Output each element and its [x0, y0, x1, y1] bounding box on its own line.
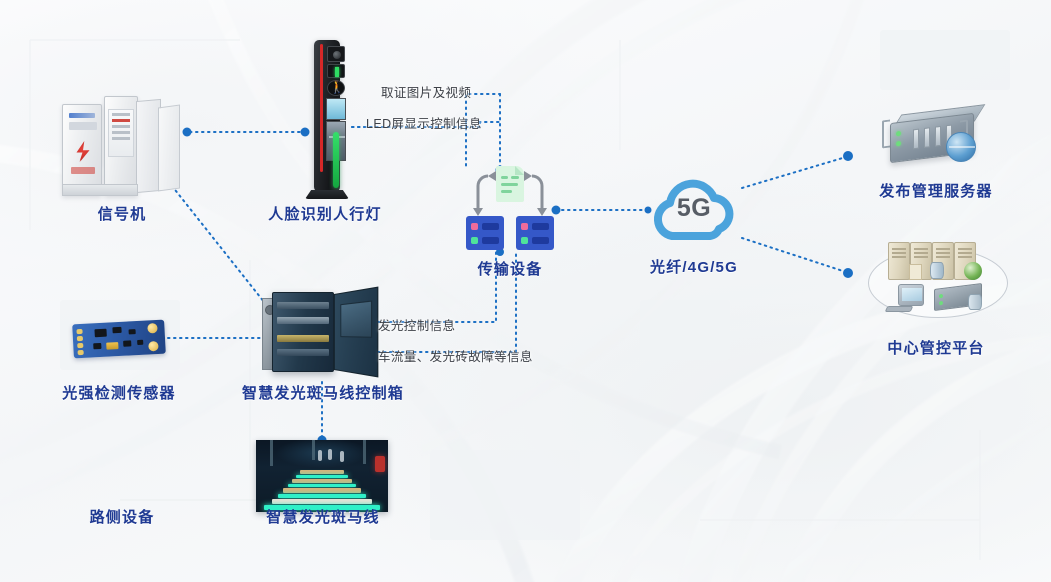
node-smart-zebra-control-box[interactable]	[262, 288, 382, 380]
zebra-crossing-photo	[256, 440, 388, 512]
server-slot-1	[913, 129, 919, 150]
platform-document-icon	[909, 264, 922, 280]
label-smart-zebra-control-box: 智慧发光斑马线控制箱	[242, 382, 404, 403]
label-face-recognition-pedestrian-light: 人脸识别人行灯	[268, 203, 381, 224]
cabinet-inner-rack	[108, 109, 134, 157]
label-central-control-platform: 中心管控平台	[887, 337, 984, 358]
sensor-mount-hole-1	[147, 323, 158, 334]
transmission-server-right	[516, 216, 554, 250]
node-transmission-equipment[interactable]	[466, 166, 554, 252]
server-led-a	[896, 131, 901, 137]
server-slot-2	[924, 127, 930, 148]
sensor-board	[72, 320, 166, 359]
platform-monitor-icon	[898, 284, 924, 306]
label-network-5g: 光纤/4G/5G	[650, 256, 738, 277]
label-publishing-management-server: 发布管理服务器	[879, 180, 992, 201]
platform-database-icon	[930, 262, 944, 279]
control-box-door	[334, 287, 378, 378]
flow-label-traffic-and-fault: 车流量、发光砖故障等信息	[378, 346, 533, 365]
countdown-display-icon	[327, 64, 345, 78]
label-transmission-equipment: 传输设备	[478, 258, 543, 279]
control-box-shelf-2	[277, 317, 329, 324]
node-smart-luminous-zebra-crossing[interactable]	[256, 440, 388, 512]
control-box-shelf-4	[277, 349, 329, 356]
node-signal-controller[interactable]	[58, 88, 186, 196]
platform-tower-1	[888, 242, 910, 280]
pole-red-strip	[320, 44, 323, 172]
globe-icon	[946, 132, 976, 162]
wire-5g-to-server	[742, 157, 846, 188]
cabinet-red-text	[71, 167, 95, 174]
signal-cabinet-open	[104, 96, 138, 196]
label-light-intensity-sensor: 光强检测传感器	[62, 382, 175, 403]
control-box-body	[272, 292, 334, 372]
pole-housing	[314, 40, 340, 192]
platform-globe-icon	[964, 262, 982, 280]
vehicle-taillight	[375, 456, 385, 472]
data-document-icon	[496, 166, 524, 202]
sensor-photodiode	[106, 342, 118, 350]
flow-label-led-display-control: LED屏显示控制信息	[366, 113, 482, 132]
sensor-mount-hole-2	[148, 341, 159, 352]
node-light-intensity-sensor[interactable]	[73, 316, 167, 360]
pole-green-strip	[333, 132, 339, 188]
led-screen-panel	[326, 98, 346, 120]
cabinet-plinth	[62, 184, 138, 196]
wire-signal-to-zebra-box	[172, 186, 272, 312]
platform-storage-icon	[968, 294, 982, 310]
node-central-control-platform[interactable]	[868, 240, 1008, 320]
node-network-5g[interactable]: 5G	[648, 178, 740, 248]
server-slot-3	[935, 126, 941, 147]
server-rack-ear-left	[882, 120, 890, 149]
wire-5g-to-platform	[742, 238, 846, 272]
server-led-b	[896, 141, 901, 147]
node-face-recognition-pedestrian-light[interactable]	[305, 40, 351, 208]
pedestrian-signal-icon	[327, 80, 345, 96]
cloud-badge-text: 5G	[648, 194, 740, 223]
node-publishing-management-server[interactable]	[876, 108, 994, 174]
signal-cabinet-closed	[62, 104, 102, 196]
pole-base	[305, 190, 349, 199]
control-box-shelf-3	[277, 335, 329, 342]
label-roadside-equipment: 路侧设备	[90, 506, 155, 527]
label-smart-luminous-zebra-crossing: 智慧发光斑马线	[266, 506, 379, 527]
label-signal-controller: 信号机	[98, 203, 147, 224]
transmission-server-left	[466, 216, 504, 250]
flow-label-luminous-control: 发光控制信息	[378, 315, 455, 334]
camera-icon	[327, 46, 345, 62]
control-box-shelf-1	[277, 302, 329, 309]
cabinet-door-rear	[158, 104, 180, 191]
platform-keyboard-icon	[885, 306, 914, 312]
diagram-canvas: 信号机 人脸识别人行灯 取证图片及视频 LED屏显示控制信息	[0, 0, 1051, 582]
lightning-bolt-icon	[70, 141, 96, 163]
cabinet-nameplate	[69, 122, 97, 130]
cabinet-brand-logo	[69, 113, 95, 118]
flow-label-evidence-media: 取证图片及视频	[381, 82, 471, 101]
